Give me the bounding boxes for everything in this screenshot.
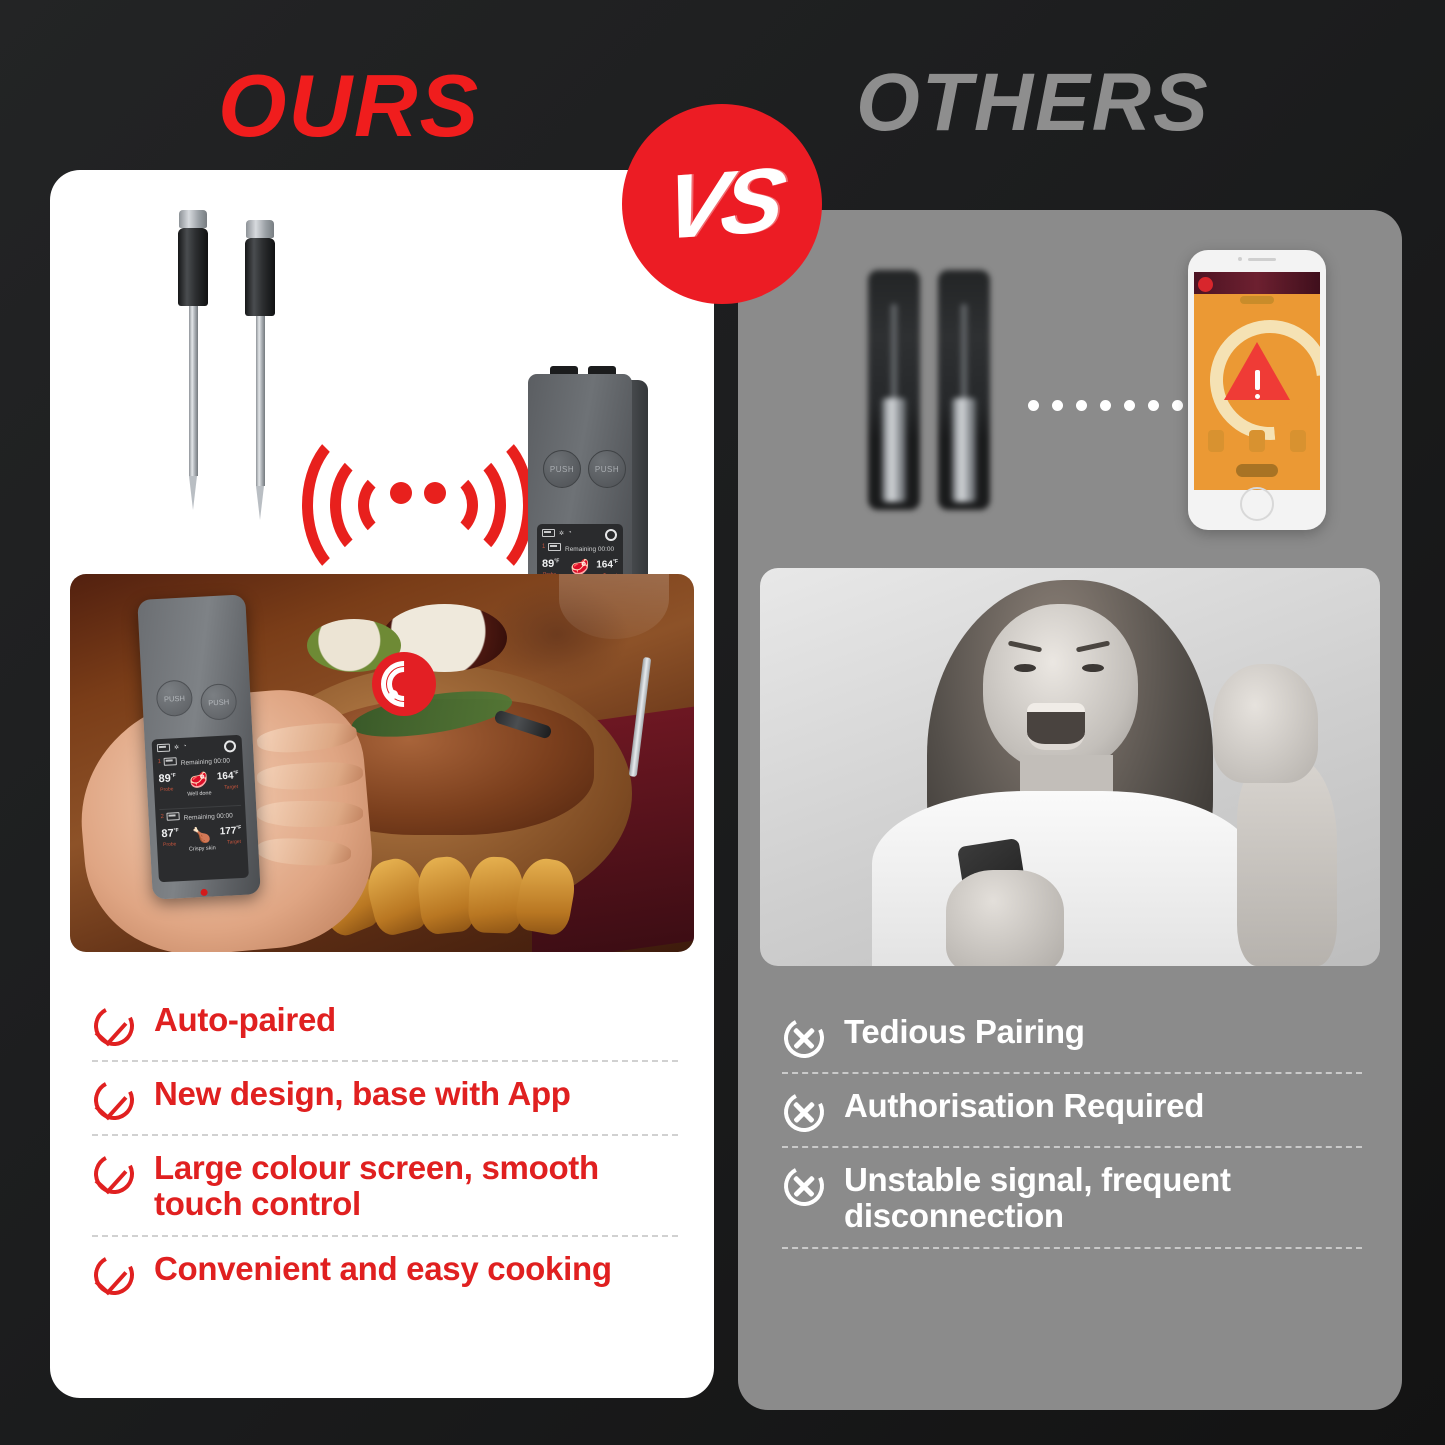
app-notification-badge — [1198, 277, 1213, 292]
heading-ours: OURS — [218, 62, 480, 150]
beef-icon: 🥩 — [187, 768, 210, 791]
bluetooth-icon: ✲ — [559, 530, 564, 537]
probe-index-1: 1 — [157, 757, 177, 766]
blurred-probe-charger — [938, 270, 990, 510]
wifi-icon: ◔ — [183, 743, 187, 749]
target-temp-caption-2: Target — [227, 839, 241, 846]
remaining-time-2: Remaining 00:00 — [183, 812, 232, 822]
probe-index-1: 1 — [542, 543, 561, 551]
meat-probe — [245, 220, 275, 520]
feature-label: Auto-paired — [154, 1002, 336, 1038]
feature-label: Convenient and easy cooking — [154, 1251, 612, 1287]
list-item: Convenient and easy cooking — [92, 1235, 678, 1309]
target-temp-caption-1: Target — [224, 784, 238, 791]
chicken-icon: 🍗 — [190, 823, 213, 846]
push-button-1[interactable]: PUSH — [543, 450, 581, 488]
probe-shaft — [256, 316, 265, 486]
vs-label: VS — [657, 148, 786, 261]
probe-body — [178, 228, 208, 306]
check-circle-icon — [94, 1255, 134, 1295]
list-item: Auto-paired — [92, 988, 678, 1060]
feature-label: New design, base with App — [154, 1076, 571, 1112]
screen-status-bar: ✲ ◔ — [542, 529, 572, 537]
card-ours: PUSH PUSH ✲ ◔ 1 — [50, 170, 714, 1398]
check-circle-icon — [94, 1006, 134, 1046]
steak-lifestyle-photo: PUSH PUSH ✲ ◔ 1 Remaining 00:00 — [70, 574, 694, 952]
push-button-1[interactable]: PUSH — [155, 679, 193, 717]
bluetooth-icon: ✲ — [174, 743, 179, 750]
raised-hand — [1213, 664, 1318, 783]
list-item: New design, base with App — [92, 1060, 678, 1134]
app-chip — [1240, 296, 1274, 304]
vs-badge: VS — [622, 104, 822, 304]
target-temp-2: 177°F — [219, 825, 241, 837]
eye — [1014, 664, 1036, 672]
card-others: Tedious Pairing Authorisation Required U… — [738, 210, 1402, 1410]
cross-circle-icon — [784, 1092, 824, 1132]
cross-circle-icon — [784, 1018, 824, 1058]
wireless-signal-icon — [302, 420, 534, 568]
target-temp-1: 164°F — [216, 770, 238, 782]
wifi-icon: ◔ — [568, 530, 572, 536]
feature-label: Unstable signal, frequent disconnection — [844, 1162, 1362, 1233]
list-item: Tedious Pairing — [782, 1000, 1362, 1072]
list-item: Unstable signal, frequent disconnection — [782, 1146, 1362, 1249]
phone-app-screen[interactable] — [1194, 272, 1320, 490]
app-icon-row — [1208, 430, 1306, 452]
home-button[interactable] — [1240, 487, 1274, 521]
probe-shaft — [189, 306, 198, 476]
warning-exclamation-bar — [1255, 370, 1260, 390]
handheld-base-station: PUSH PUSH ✲ ◔ 1 Remaining 00:00 — [137, 594, 261, 899]
gear-icon[interactable] — [224, 740, 237, 753]
eye — [1082, 664, 1104, 672]
others-hero — [738, 210, 1402, 570]
frustrated-user-photo — [760, 568, 1380, 966]
battery-icon — [542, 529, 555, 537]
wifi-badge — [372, 652, 436, 716]
probe-reading-row-2: 87°F Probe 🍗 Crispy skin 177°F Target — [156, 821, 248, 866]
list-item: Large colour screen, smooth touch contro… — [92, 1134, 678, 1235]
push-button-2[interactable]: PUSH — [588, 450, 626, 488]
comparison-infographic: OURS OTHERS VS — [0, 0, 1445, 1445]
potato-wedge — [468, 856, 525, 934]
feature-label: Large colour screen, smooth touch contro… — [154, 1150, 678, 1221]
check-circle-icon — [94, 1080, 134, 1120]
heading-others: OTHERS — [856, 62, 1210, 144]
target-temp-1: 164°F — [596, 559, 618, 570]
gear-icon[interactable] — [605, 529, 617, 541]
warning-exclamation-dot — [1255, 394, 1260, 399]
probe-cap — [246, 220, 274, 238]
status-led — [200, 888, 207, 895]
finger — [257, 801, 363, 827]
probe-index-2: 2 — [160, 812, 180, 821]
push-button-2[interactable]: PUSH — [200, 683, 238, 721]
remaining-time-1: Remaining 00:00 — [565, 546, 614, 553]
probe-tip — [189, 476, 197, 510]
check-circle-icon — [94, 1154, 134, 1194]
list-item: Authorisation Required — [782, 1072, 1362, 1146]
meat-probe — [178, 210, 208, 510]
raised-arm — [1237, 759, 1336, 966]
battery-icon — [157, 743, 170, 752]
smartphone — [1188, 250, 1326, 530]
probe-tip — [256, 486, 264, 520]
current-temp-1: 89°F — [542, 558, 559, 570]
others-feature-list: Tedious Pairing Authorisation Required U… — [782, 1000, 1362, 1249]
feature-label: Tedious Pairing — [844, 1014, 1085, 1050]
screen-status-bar: ✲ ◔ — [157, 742, 187, 752]
mouth — [1027, 703, 1085, 750]
ours-feature-list: Auto-paired New design, base with App La… — [92, 988, 678, 1309]
wine-glass — [559, 574, 669, 639]
device-screen[interactable]: ✲ ◔ 1 Remaining 00:00 89°F Probe 🥩 Wel — [151, 734, 248, 882]
feature-label: Authorisation Required — [844, 1088, 1204, 1124]
cross-circle-icon — [784, 1166, 824, 1206]
probe-body — [245, 238, 275, 316]
remaining-time-1: Remaining 00:00 — [181, 757, 230, 767]
blurred-probe-charger — [868, 270, 920, 510]
probe-cap — [179, 210, 207, 228]
hand-holding-phone — [946, 870, 1064, 966]
ours-hero: PUSH PUSH ✲ ◔ 1 — [50, 170, 714, 570]
current-temp-1: 89°F — [158, 772, 176, 785]
app-action-button[interactable] — [1236, 464, 1278, 477]
phone-speaker — [1238, 257, 1276, 261]
current-temp-2: 87°F — [161, 827, 179, 840]
